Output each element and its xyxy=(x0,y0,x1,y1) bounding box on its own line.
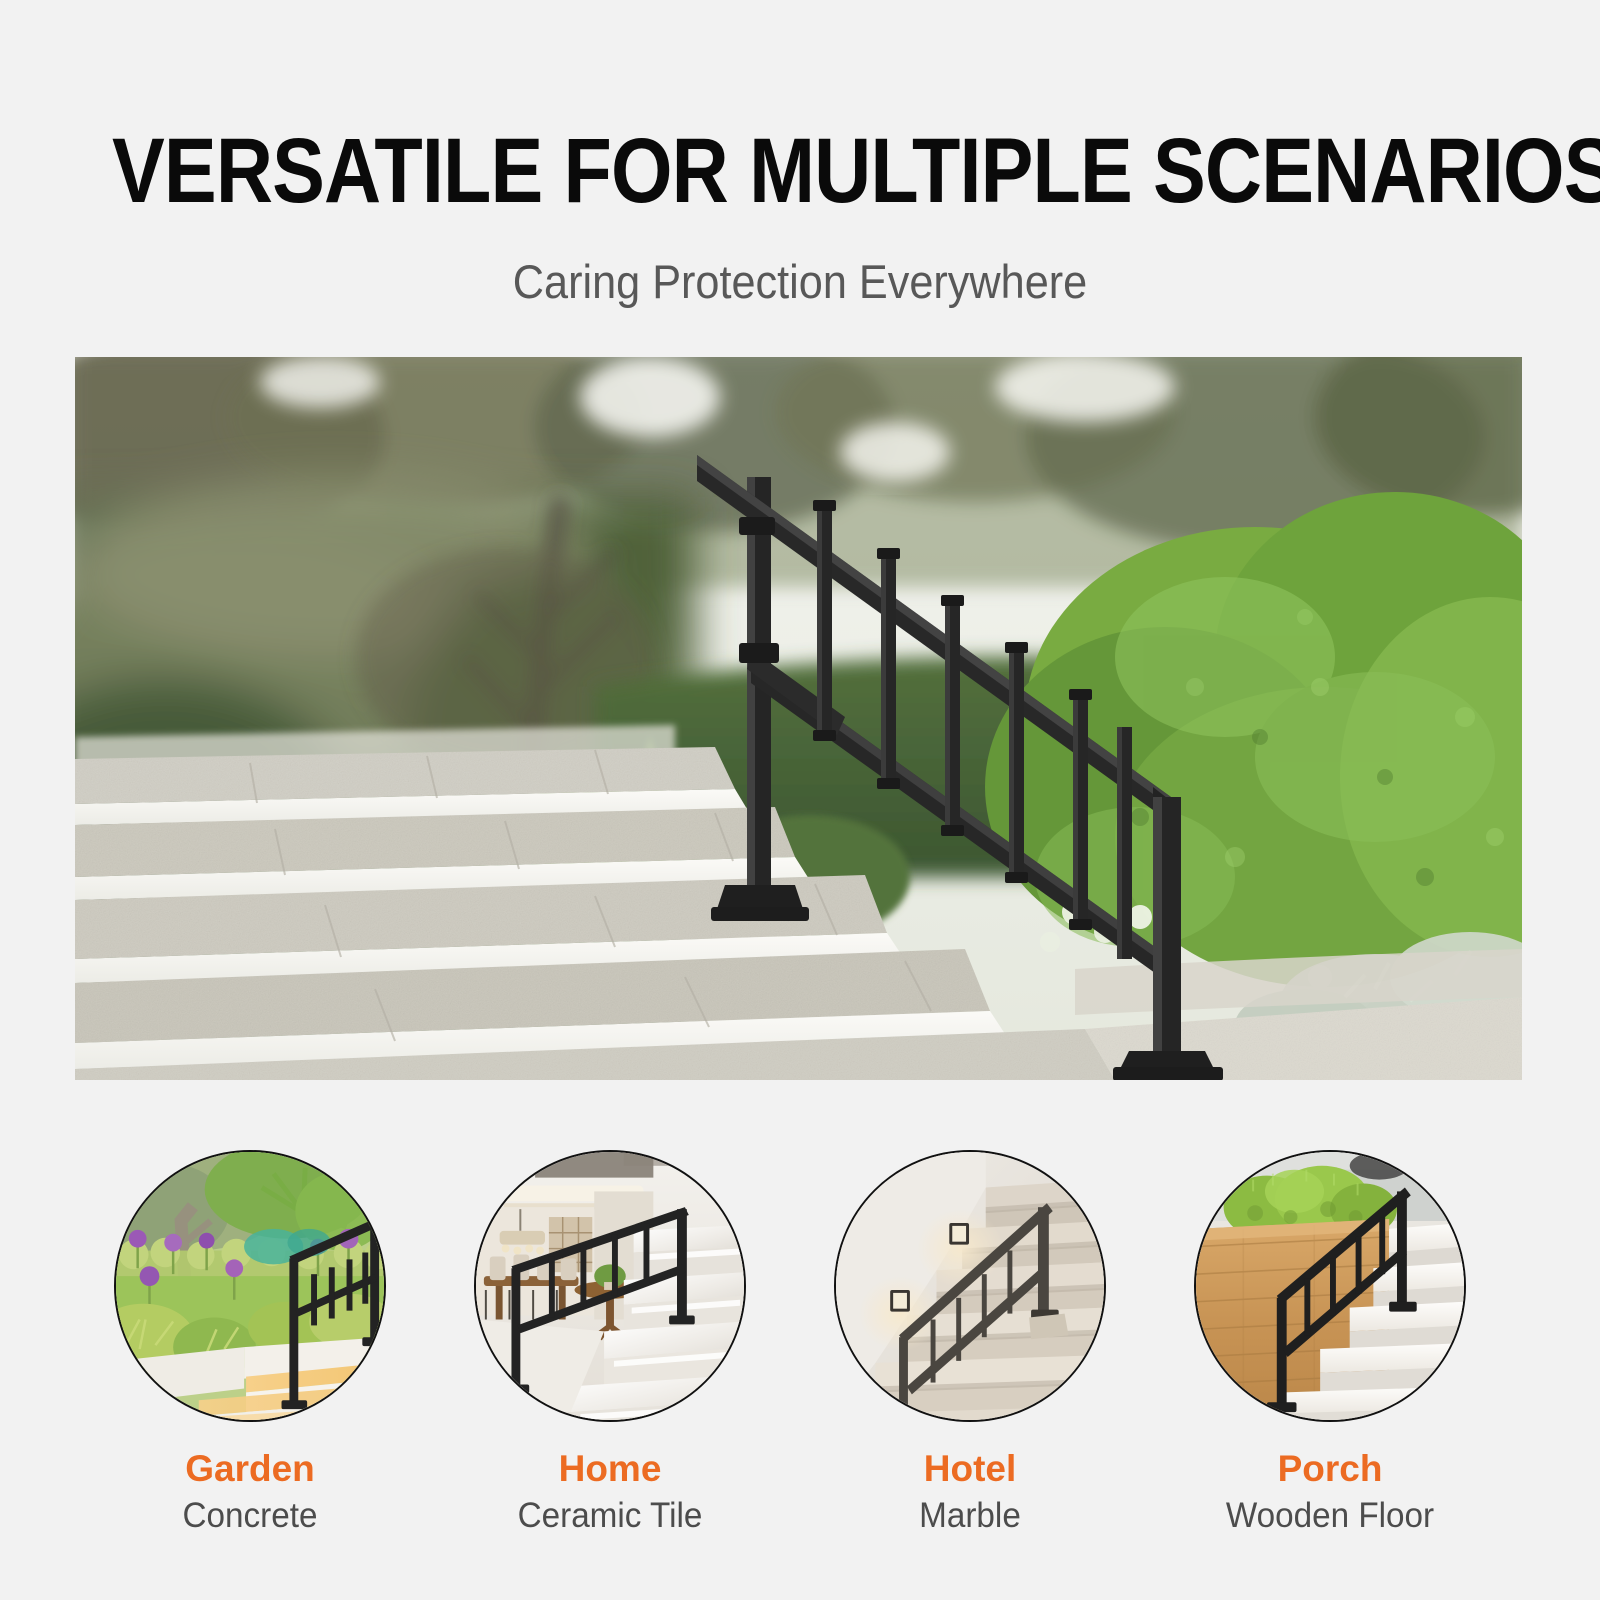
product-feature-page: VERSATILE FOR MULTIPLE SCENARIOS Caring … xyxy=(0,0,1600,1600)
page-title: VERSATILE FOR MULTIPLE SCENARIOS xyxy=(112,125,1488,217)
scenario-thumb-home xyxy=(474,1150,746,1422)
home-thumbnail-illustration xyxy=(476,1152,744,1420)
scenario-thumb-hotel xyxy=(834,1150,1106,1422)
hotel-thumbnail-illustration xyxy=(836,1152,1104,1420)
scenario-card-garden[interactable]: Garden Concrete xyxy=(70,1150,430,1536)
scenario-card-home[interactable]: Home Ceramic Tile xyxy=(430,1150,790,1536)
hero-image xyxy=(75,357,1522,1080)
scenario-surface-porch: Wooden Floor xyxy=(1159,1496,1501,1536)
scenario-list: Garden Concrete xyxy=(0,1150,1600,1570)
scenario-thumb-garden xyxy=(114,1150,386,1422)
scenario-surface-hotel: Marble xyxy=(799,1496,1141,1536)
scenario-title-porch: Porch xyxy=(1150,1448,1510,1490)
scenario-title-hotel: Hotel xyxy=(790,1448,1150,1490)
hero-illustration xyxy=(75,357,1522,1080)
scenario-card-porch[interactable]: Porch Wooden Floor xyxy=(1150,1150,1510,1536)
scenario-card-hotel[interactable]: Hotel Marble xyxy=(790,1150,1150,1536)
garden-thumbnail-illustration xyxy=(116,1152,384,1420)
porch-thumbnail-illustration xyxy=(1196,1152,1464,1420)
scenario-surface-home: Ceramic Tile xyxy=(439,1496,781,1536)
scenario-thumb-porch xyxy=(1194,1150,1466,1422)
scenario-title-home: Home xyxy=(430,1448,790,1490)
page-subtitle: Caring Protection Everywhere xyxy=(64,256,1536,308)
scenario-surface-garden: Concrete xyxy=(79,1496,421,1536)
scenario-title-garden: Garden xyxy=(70,1448,430,1490)
